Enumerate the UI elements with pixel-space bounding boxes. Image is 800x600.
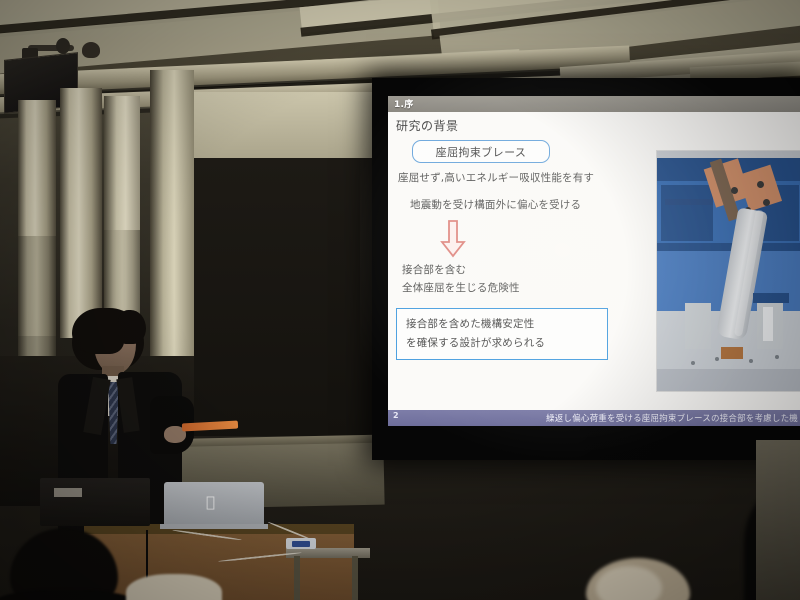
slide-header-band: 1.序: [388, 96, 800, 112]
slide-page-number: 2: [393, 411, 399, 420]
slide-footer-band: 2 繰返し偏心荷重を受ける座屈拘束ブレースの接合部を考慮した機: [388, 410, 800, 426]
slide-mid-line-2: 全体座屈を生じる危険性: [402, 280, 520, 295]
macbook-laptop[interactable]: : [164, 482, 264, 526]
slide-footer-title: 繰返し偏心荷重を受ける座屈拘束ブレースの接合部を考慮した機: [546, 412, 798, 424]
conclusion-box: 接合部を含めた機構安定性 を確保する設計が求められる: [396, 308, 608, 360]
conclusion-line-1: 接合部を含めた機構安定性: [406, 316, 534, 331]
presentation-slide: 1.序 研究の背景 座屈拘束ブレース 座屈せず,高いエネルギー吸収性能を有す 地…: [388, 96, 800, 426]
laser-pointer: [182, 421, 238, 432]
laptop-label-sticker: [54, 488, 82, 497]
black-laptop[interactable]: [40, 478, 150, 526]
macbook-base: [160, 524, 268, 529]
conclusion-line-2: を確保する設計が求められる: [406, 335, 545, 350]
slide-heading: 研究の背景: [396, 117, 459, 134]
slide-body: 研究の背景 座屈拘束ブレース 座屈せず,高いエネルギー吸収性能を有す 地震動を受…: [388, 112, 800, 410]
chair-back: [126, 574, 222, 600]
upper-wall: [194, 92, 374, 162]
slide-mid-line-1: 接合部を含む: [402, 262, 466, 277]
apple-logo-icon: : [206, 495, 215, 510]
room-column-center: [60, 88, 102, 338]
right-wall: [756, 440, 800, 600]
slide-body-line-2: 地震動を受け構面外に偏心を受ける: [410, 197, 581, 212]
slide-section-number: 1.序: [394, 97, 414, 110]
down-arrow-icon: [440, 220, 466, 258]
highlight-term-label: 座屈拘束ブレース: [436, 144, 527, 160]
specimen-photo: [656, 150, 800, 392]
slide-body-line-1: 座屈せず,高いエネルギー吸収性能を有す: [398, 170, 594, 185]
highlight-term-box: 座屈拘束ブレース: [412, 140, 550, 163]
lecture-hall-photo: 1.序 研究の背景 座屈拘束ブレース 座屈せず,高いエネルギー吸収性能を有す 地…: [0, 0, 800, 600]
